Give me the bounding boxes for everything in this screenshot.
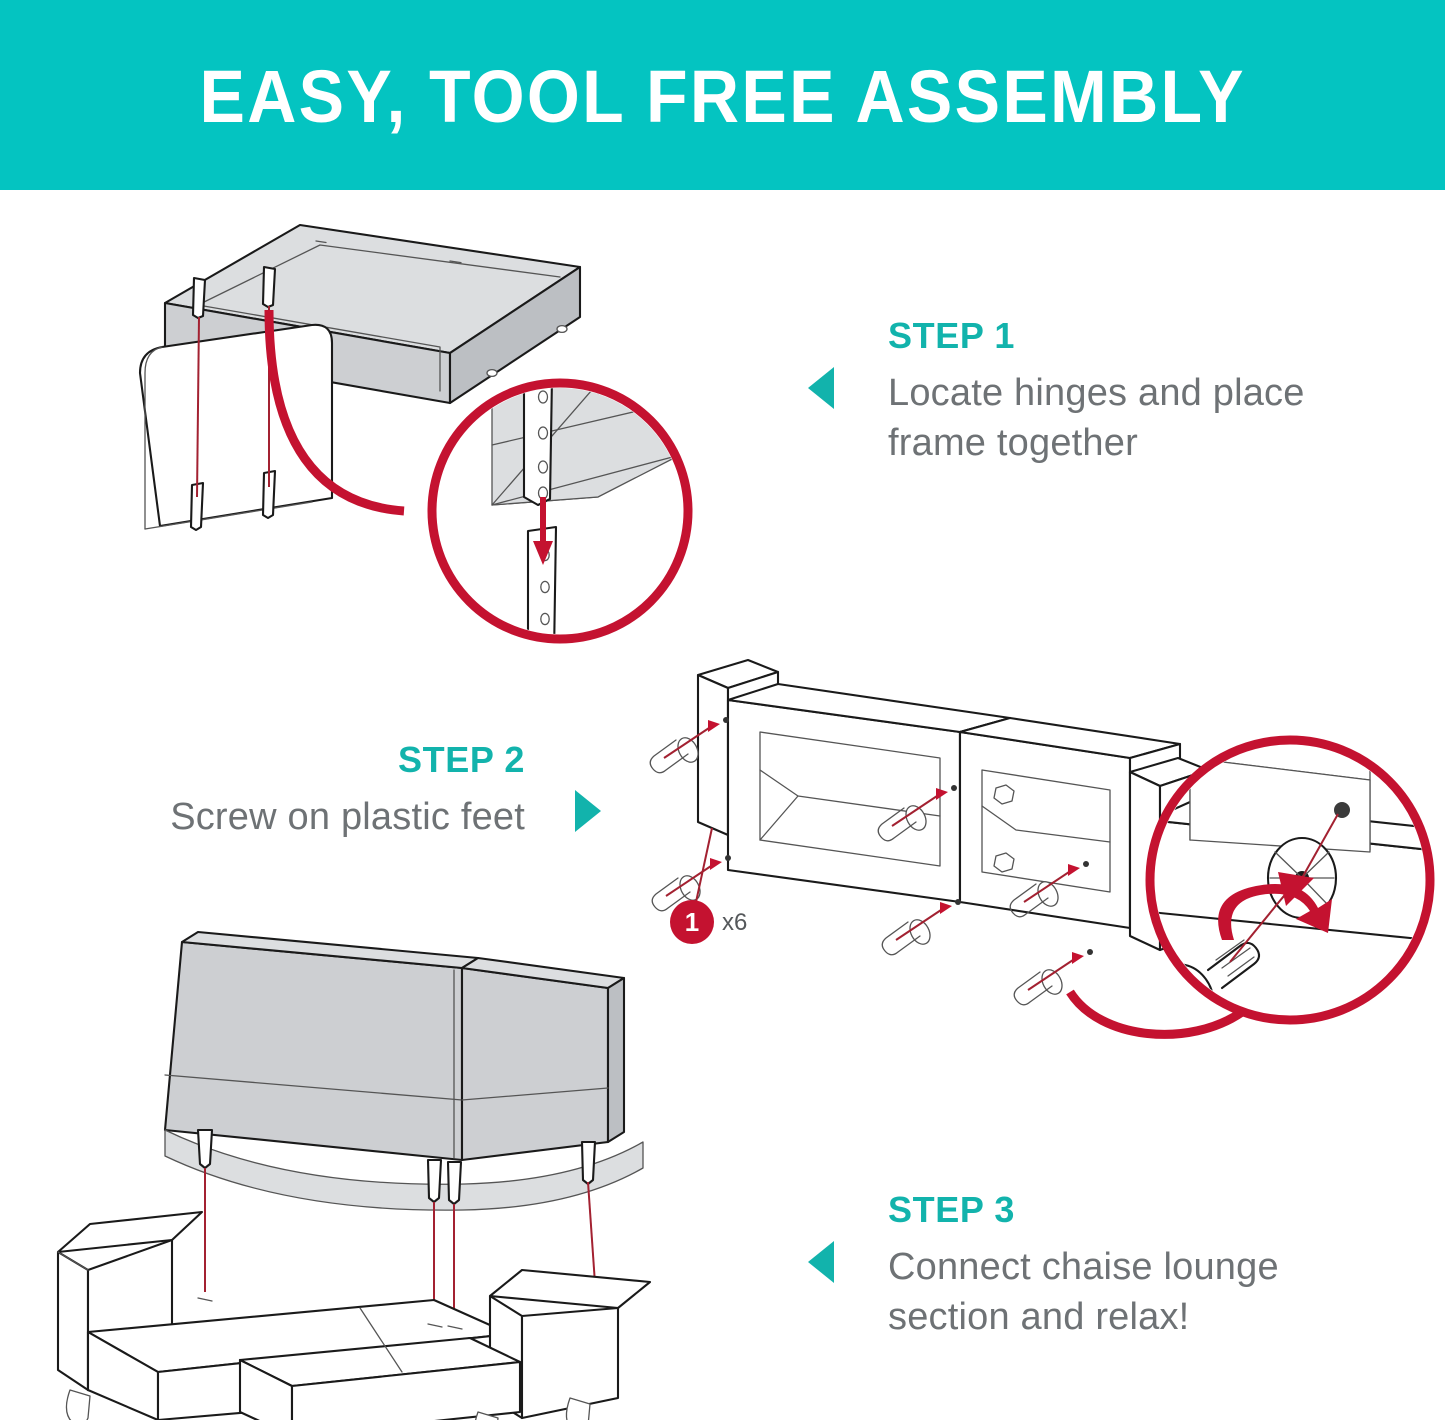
step-1-text-block: STEP 1 Locate hinges and place frame tog… [888, 318, 1388, 468]
step-3-label: STEP 3 [888, 1192, 1388, 1228]
step-1-label: STEP 1 [888, 318, 1388, 354]
step-2-diagram: 1 x6 [630, 640, 1440, 1060]
step-3-illustration [30, 920, 710, 1420]
assembly-instruction-page: EASY, TOOL FREE ASSEMBLY [0, 0, 1445, 1418]
step-3-text-block: STEP 3 Connect chaise lounge section and… [888, 1192, 1388, 1342]
step-2-description: Screw on plastic feet [95, 792, 525, 842]
step-1-diagram [120, 205, 740, 665]
part-quantity-label: x6 [722, 909, 747, 936]
step-1-arrow-icon [808, 367, 834, 409]
step-3-description: Connect chaise lounge section and relax! [888, 1242, 1388, 1342]
step-1-description: Locate hinges and place frame together [888, 368, 1388, 468]
step-2-text-block: STEP 2 Screw on plastic feet [95, 742, 525, 842]
step-2-arrow-icon [575, 790, 601, 832]
step-3-diagram [30, 920, 710, 1420]
step-3-arrow-icon [808, 1241, 834, 1283]
plastic-foot [1014, 949, 1093, 1005]
step-2-label: STEP 2 [95, 742, 525, 778]
magnifier-circle-step2 [1150, 740, 1445, 1029]
step-1-illustration [120, 205, 740, 665]
back-panel [140, 325, 332, 529]
page-title: EASY, TOOL FREE ASSEMBLY [199, 60, 1245, 134]
header-banner: EASY, TOOL FREE ASSEMBLY [0, 0, 1445, 190]
plastic-foot [882, 899, 961, 955]
step-2-illustration: 1 x6 [630, 640, 1440, 1060]
sofa-base [58, 1212, 650, 1420]
magnifier-circle-step1 [432, 360, 688, 663]
backrest-assembly [165, 932, 643, 1210]
